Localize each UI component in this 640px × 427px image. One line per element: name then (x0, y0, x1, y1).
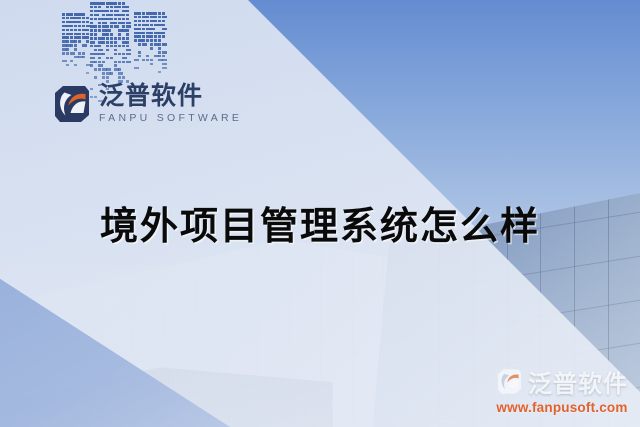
skyline-pixel (110, 45, 113, 48)
skyline-pixel (150, 32, 153, 35)
skyline-pixel (162, 59, 167, 62)
skyline-pixel (90, 45, 93, 48)
skyline-pixel (66, 40, 69, 43)
watermark-url: www.fanpusoft.com (496, 400, 628, 415)
skyline-pixel (90, 14, 93, 17)
skyline-pixel (134, 24, 137, 27)
skyline-pixel (110, 18, 113, 21)
skyline-pixel (126, 6, 129, 9)
skyline-pixel (106, 33, 109, 36)
skyline-pixel (138, 35, 141, 38)
skyline-pixel (98, 64, 103, 67)
skyline-pixel (66, 48, 69, 51)
skyline-pixel (118, 45, 121, 48)
skyline-pixel (126, 33, 129, 36)
skyline-pixel (110, 10, 113, 13)
skyline-pixel (146, 20, 149, 23)
skyline-pixel (138, 24, 141, 27)
skyline-pixel (110, 14, 113, 17)
skyline-pixel (98, 29, 101, 32)
skyline-pixel (126, 45, 129, 48)
skyline-pixel (162, 63, 167, 66)
skyline-pixel (78, 21, 81, 24)
skyline-pixel (94, 33, 97, 36)
skyline-pixel (98, 6, 101, 9)
skyline-pixel (62, 29, 65, 32)
skyline-pixel (154, 12, 157, 15)
skyline-pixel (74, 25, 77, 28)
skyline-pixel (118, 61, 121, 64)
skyline-pixel (134, 67, 139, 70)
skyline-pixel (62, 21, 65, 24)
skyline-pixel (142, 43, 147, 46)
promo-banner: 泛普软件 FANPU SOFTWARE 境外项目管理系统怎么样 泛普软件 www… (0, 0, 640, 427)
skyline-pixel (94, 25, 97, 28)
skyline-pixel (150, 24, 153, 27)
skyline-pixel (106, 68, 111, 71)
skyline-pixel (102, 14, 105, 17)
skyline-pixel (114, 2, 117, 5)
skyline-pixel (90, 22, 93, 25)
skyline-pixel (94, 68, 97, 71)
skyline-pixel (122, 76, 125, 79)
skyline-pixel (138, 12, 141, 15)
skyline-pixel (94, 29, 97, 32)
skyline-pixel (162, 43, 167, 46)
skyline-pixel (122, 18, 125, 21)
skyline-pixel (66, 52, 69, 55)
skyline-pixel (62, 13, 65, 16)
skyline-pixel (106, 37, 109, 40)
skyline-pixel (114, 37, 117, 40)
skyline-pixel (118, 18, 121, 21)
skyline-pixel (142, 32, 145, 35)
skyline-pixel (106, 25, 109, 28)
skyline-pixel (118, 76, 121, 79)
watermark-name-cn: 泛普软件 (528, 364, 628, 399)
skyline-pixel (126, 18, 129, 21)
skyline-pixel (94, 37, 97, 40)
skyline-pixel (114, 25, 119, 28)
skyline-pixel (110, 33, 113, 36)
skyline-pixel (118, 6, 121, 9)
skyline-pixel (126, 61, 131, 64)
skyline-pixel (126, 29, 129, 32)
skyline-pixel (86, 40, 89, 43)
skyline-pixel (162, 20, 165, 23)
skyline-pixel (110, 41, 113, 44)
skyline-pixel (102, 37, 105, 40)
skyline-pixel (142, 35, 145, 38)
skyline-pixel (138, 43, 141, 46)
fanpu-watermark-mark (496, 368, 523, 395)
skyline-pixel (102, 2, 105, 5)
skyline-pixel (158, 39, 161, 42)
skyline-pixel (162, 51, 167, 54)
skyline-pixel (86, 72, 89, 75)
skyline-pixel (82, 25, 85, 28)
skyline-pixel (146, 39, 149, 42)
skyline-pixel (106, 41, 109, 44)
skyline-pixel (134, 20, 137, 23)
fanpu-logo-mark (52, 84, 92, 124)
skyline-pixel (94, 76, 97, 79)
skyline-pixel (74, 29, 77, 32)
skyline-pixel (150, 47, 153, 50)
skyline-pixel (70, 60, 73, 63)
skyline-pixel (82, 33, 85, 36)
skyline-pixel (154, 35, 157, 38)
skyline-pixel (82, 13, 85, 16)
skyline-pixel (122, 37, 125, 40)
skyline-pixel (86, 17, 89, 20)
skyline-pixel (94, 14, 99, 17)
skyline-pixel (86, 33, 89, 36)
skyline-pixel (82, 44, 87, 47)
skyline-pixel (114, 53, 117, 56)
skyline-pixel (134, 16, 137, 19)
skyline-pixel (94, 61, 97, 64)
skyline-pixel (106, 10, 109, 13)
skyline-pixel (162, 28, 167, 31)
skyline-pixel (66, 17, 69, 20)
skyline-pixel (146, 59, 149, 62)
skyline-pixel (122, 53, 125, 56)
skyline-pixel (138, 20, 141, 23)
skyline-pixel (62, 17, 65, 20)
skyline-pixel (158, 20, 161, 23)
skyline-pixel (150, 39, 153, 42)
skyline-pixel (70, 13, 73, 16)
skyline-pixel (158, 47, 161, 50)
skyline-pixel (90, 57, 95, 60)
skyline-pixel (158, 35, 161, 38)
skyline-pixel (158, 43, 161, 46)
skyline-pixel (102, 22, 107, 25)
skyline-pixel (66, 36, 69, 39)
skyline-pixel (134, 39, 137, 42)
skyline-pixel (94, 18, 97, 21)
skyline-pixel (142, 59, 145, 62)
skyline-pixel (158, 51, 161, 54)
skyline-pixel (86, 21, 89, 24)
skyline-pixel (142, 39, 145, 42)
skyline-pixel (114, 10, 119, 13)
skyline-pixel (122, 2, 125, 5)
skyline-pixel (90, 29, 93, 32)
skyline-pixel (150, 59, 153, 62)
brand-logo: 泛普软件 FANPU SOFTWARE (52, 84, 242, 124)
skyline-pixel (138, 55, 141, 58)
skyline-pixel (126, 37, 129, 40)
skyline-pixel (126, 49, 131, 52)
skyline-pixel (154, 16, 157, 19)
skyline-pixel (102, 53, 105, 56)
skyline-pixel (70, 52, 75, 55)
skyline-pixel (162, 32, 165, 35)
skyline-pixel (138, 51, 141, 54)
skyline-pixel (106, 57, 109, 60)
skyline-pixel (162, 55, 165, 58)
skyline-pixel (118, 72, 123, 75)
skyline-pixel (126, 14, 129, 17)
skyline-pixel (102, 41, 105, 44)
skyline-pixel (114, 45, 117, 48)
skyline-pixel (142, 20, 145, 23)
skyline-pixel (158, 55, 161, 58)
skyline-pixel (138, 16, 141, 19)
skyline-pixel (150, 43, 153, 46)
skyline-pixel (110, 6, 113, 9)
skyline-pixel (158, 12, 161, 15)
skyline-pixel (70, 25, 73, 28)
skyline-pixel (126, 25, 131, 28)
skyline-pixel (86, 36, 89, 39)
skyline-pixel (70, 36, 73, 39)
skyline-pixel (126, 53, 131, 56)
skyline-pixel (74, 64, 77, 67)
skyline-pixel (118, 33, 121, 36)
skyline-pixel (118, 2, 121, 5)
skyline-pixel (106, 76, 109, 79)
skyline-pixel (114, 64, 117, 67)
skyline-pixel (150, 63, 153, 66)
skyline-pixel (78, 17, 81, 20)
skyline-pixel (98, 45, 101, 48)
pixel-skyline-graphic (62, 2, 174, 86)
skyline-pixel (154, 20, 157, 23)
skyline-pixel (146, 55, 149, 58)
skyline-pixel (78, 25, 81, 28)
brand-name-cn: 泛普软件 (99, 84, 242, 109)
skyline-pixel (142, 28, 145, 31)
brand-logo-text: 泛普软件 FANPU SOFTWARE (99, 84, 242, 124)
skyline-pixel (114, 41, 117, 44)
skyline-pixel (110, 37, 113, 40)
skyline-pixel (102, 72, 105, 75)
skyline-pixel (66, 29, 69, 32)
skyline-pixel (62, 52, 65, 55)
skyline-pixel (146, 24, 149, 27)
skyline-pixel (162, 12, 165, 15)
skyline-pixel (90, 18, 93, 21)
skyline-pixel (90, 10, 93, 13)
skyline-pixel (82, 52, 85, 55)
skyline-pixel (90, 6, 93, 9)
skyline-pixel (98, 57, 101, 60)
skyline-pixel (138, 28, 141, 31)
skyline-pixel (62, 33, 65, 36)
skyline-pixel (118, 37, 121, 40)
skyline-pixel (106, 6, 109, 9)
skyline-pixel (118, 53, 121, 56)
skyline-pixel (110, 25, 113, 28)
corner-watermark: 泛普软件 www.fanpusoft.com (496, 364, 628, 415)
brand-name-en: FANPU SOFTWARE (99, 113, 242, 124)
skyline-pixel (102, 76, 105, 79)
skyline-pixel (122, 22, 125, 25)
skyline-pixel (158, 71, 161, 74)
skyline-pixel (78, 40, 81, 43)
skyline-pixel (70, 44, 73, 47)
skyline-pixel (74, 48, 77, 51)
skyline-pixel (158, 16, 161, 19)
skyline-pixel (82, 21, 85, 24)
skyline-pixel (66, 64, 69, 67)
skyline-pixel (78, 52, 81, 55)
skyline-pixel (74, 40, 77, 43)
skyline-pixel (78, 33, 81, 36)
watermark-brand-row: 泛普软件 (496, 364, 628, 399)
skyline-pixel (94, 49, 97, 52)
skyline-pixel (142, 12, 145, 15)
skyline-pixel (110, 57, 113, 60)
skyline-pixel (122, 25, 125, 28)
skyline-pixel (118, 68, 121, 71)
skyline-pixel (78, 36, 81, 39)
skyline-pixel (126, 10, 129, 13)
skyline-pixel (98, 25, 101, 28)
skyline-pixel (162, 35, 165, 38)
skyline-pixel (122, 45, 125, 48)
banner-headline: 境外项目管理系统怎么样 (0, 195, 640, 250)
skyline-pixel (78, 29, 81, 32)
skyline-pixel (98, 61, 101, 64)
skyline-pixel (114, 18, 117, 21)
skyline-pixel (106, 29, 111, 32)
skyline-pixel (90, 41, 95, 44)
skyline-pixel (110, 72, 113, 75)
skyline-pixel (126, 22, 131, 25)
skyline-pixel (98, 22, 101, 25)
skyline-pixel (98, 68, 101, 71)
skyline-pixel (70, 29, 73, 32)
skyline-pixel (90, 37, 93, 40)
skyline-pixel (70, 33, 73, 36)
skyline-pixel (122, 57, 127, 60)
skyline-pixel (62, 60, 67, 63)
skyline-pixel (106, 45, 109, 48)
skyline-pixel (150, 35, 153, 38)
skyline-pixel (114, 61, 117, 64)
skyline-pixel (98, 49, 103, 52)
skyline-pixel (114, 22, 117, 25)
skyline-pixel (90, 64, 93, 67)
skyline-pixel (154, 39, 157, 42)
skyline-pixel (162, 16, 167, 19)
skyline-pixel (102, 61, 105, 64)
skyline-pixel (134, 59, 139, 62)
skyline-pixel (126, 41, 129, 44)
skyline-pixel (146, 16, 149, 19)
skyline-pixel (74, 44, 77, 47)
skyline-pixel (162, 67, 167, 70)
skyline-pixel (114, 49, 117, 52)
skyline-pixel (90, 33, 93, 36)
skyline-pixel (82, 17, 85, 20)
skyline-pixel (162, 24, 165, 27)
skyline-pixel (82, 56, 85, 59)
skyline-pixel (106, 49, 109, 52)
skyline-pixel (94, 6, 97, 9)
skyline-pixel (122, 61, 125, 64)
skyline-pixel (122, 14, 125, 17)
skyline-pixel (86, 29, 89, 32)
skyline-pixel (150, 28, 155, 31)
